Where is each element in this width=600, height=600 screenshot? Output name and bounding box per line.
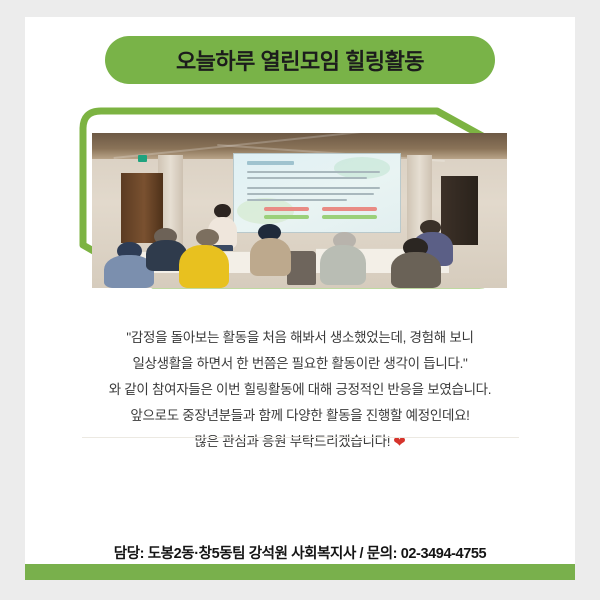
chair-center	[287, 251, 316, 285]
body-closing-line: 많은 관심과 응원 부탁드리겠습니다!❤	[25, 429, 575, 456]
body-line-1: "감정을 돌아보는 활동을 처음 해봐서 생소했었는데, 경험해 보니	[25, 325, 575, 351]
participant-body	[250, 238, 292, 275]
participant-body	[179, 245, 229, 288]
title-banner: 오늘하루 열린모임 힐링활동	[105, 36, 495, 84]
photo-scene	[92, 133, 507, 288]
activity-photo	[92, 133, 507, 288]
body-line-3: 와 같이 참여자들은 이번 힐링활동에 대해 긍정적인 반응을 보였습니다.	[25, 377, 575, 403]
card-bottom-bar	[25, 564, 575, 580]
poster-page: 오늘하루 열린모임 힐링활동	[0, 0, 600, 600]
page-title: 오늘하루 열린모임 힐링활동	[176, 44, 424, 76]
poster-card: 오늘하루 열린모임 힐링활동	[25, 17, 575, 580]
participant-body	[320, 245, 366, 285]
section-divider	[82, 437, 519, 438]
slide-title	[247, 161, 293, 165]
footer-contact: 담당: 도봉2동·창5동팀 강석원 사회복지사 / 문의: 02-3494-47…	[25, 542, 575, 563]
body-line-2: 일상생활을 하면서 한 번쯤은 필요한 활동이란 생각이 듭니다."	[25, 351, 575, 377]
photo-area	[25, 85, 575, 315]
participant-head	[196, 229, 219, 246]
projection-screen	[233, 153, 401, 233]
body-line-4: 앞으로도 중장년분들과 함께 다양한 활동을 진행할 예정인데요!	[25, 403, 575, 429]
title-banner-wrap: 오늘하루 열린모임 힐링활동	[25, 17, 575, 84]
room-doorway-right	[441, 176, 478, 244]
participant-body	[391, 252, 441, 288]
exit-sign-icon	[138, 155, 147, 162]
